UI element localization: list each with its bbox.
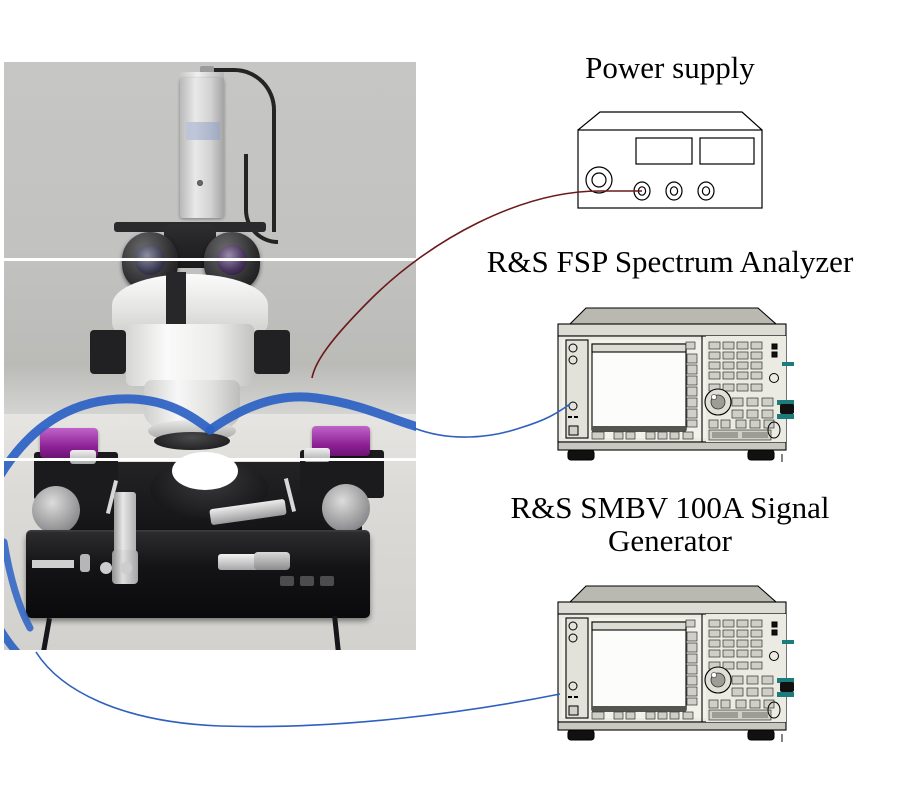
- analyzer-power-button: [569, 426, 578, 435]
- analyzer-softkey-6: [687, 409, 697, 418]
- generator-screen-bottom-bar: [592, 706, 686, 712]
- signal-generator-label-line1: R&S SMBV 100A Signal: [450, 492, 890, 525]
- analyzer-softkey-7: [687, 420, 697, 427]
- analyzer-screen-bottom-bar: [592, 426, 686, 432]
- generator-top-cover: [570, 586, 776, 602]
- analyzer-left-bay: [566, 340, 588, 438]
- generator-led-2: [772, 630, 777, 635]
- analyzer-foot-right: [748, 450, 774, 460]
- analyzer-aux-rf-connector: [777, 414, 794, 419]
- analyzer-rf-input-cap: [780, 404, 794, 414]
- analyzer-bottom-key-7: [683, 432, 693, 439]
- signal-generator-label-line2: Generator: [450, 525, 890, 558]
- power-supply-terminal-1-outer: [634, 182, 650, 200]
- signal-generator-device: [546, 580, 798, 746]
- analyzer-indicator-1: [568, 416, 572, 418]
- power-supply-terminal-3-outer: [698, 182, 714, 200]
- generator-screen-corner-key: [686, 620, 695, 627]
- signal-generator-label: R&S SMBV 100A Signal Generator: [450, 492, 890, 558]
- generator-base-rail: [558, 722, 786, 730]
- power-supply-device: [566, 108, 772, 212]
- generator-foot-right: [748, 730, 774, 740]
- analyzer-softkey-3: [687, 376, 697, 385]
- power-supply-terminal-2-outer: [666, 182, 682, 200]
- power-supply-label: Power supply: [470, 52, 870, 85]
- power-supply-top-bevel: [578, 112, 762, 130]
- spectrum-analyzer-device: [546, 302, 798, 464]
- generator-bottom-key-5: [658, 712, 667, 719]
- power-supply-main-knob-outer: [586, 167, 612, 193]
- power-supply-display-voltage: [636, 138, 692, 164]
- analyzer-bottom-key-4: [646, 432, 655, 439]
- generator-softkey-1: [687, 632, 697, 641]
- probe-station-photograph: [4, 62, 416, 650]
- analyzer-softkey-5: [687, 398, 697, 407]
- generator-softkey-4: [687, 665, 697, 674]
- generator-rotary-knob: [705, 667, 731, 693]
- power-supply-main-knob-inner: [592, 173, 606, 187]
- generator-bottom-key-7: [683, 712, 693, 719]
- scan-artifact-line-upper: [4, 258, 416, 261]
- generator-bottom-key-4: [646, 712, 655, 719]
- analyzer-screen-corner-key: [686, 342, 695, 349]
- power-supply-terminal-1-inner: [638, 187, 645, 195]
- analyzer-base-rail: [558, 442, 786, 450]
- generator-indicator-1: [568, 696, 572, 698]
- generator-led-1: [772, 622, 777, 627]
- analyzer-bottom-key-6: [670, 432, 679, 439]
- generator-bottom-key-6: [670, 712, 679, 719]
- generator-bottom-key-2: [614, 712, 623, 719]
- analyzer-softkey-4: [687, 387, 697, 396]
- analyzer-rotary-knob: [705, 389, 731, 415]
- generator-top-rail: [558, 602, 786, 614]
- generator-softkey-7: [687, 698, 697, 705]
- analyzer-led-1: [772, 344, 777, 349]
- generator-indicator-2: [574, 696, 578, 698]
- analyzer-bottom-key-2: [614, 432, 623, 439]
- analyzer-screen: [592, 344, 686, 430]
- spectrum-analyzer-label: R&S FSP Spectrum Analyzer: [440, 246, 900, 279]
- analyzer-softkey-2: [687, 365, 697, 374]
- generator-bottom-key-1: [592, 712, 604, 719]
- generator-rf-output-cap: [780, 682, 794, 692]
- analyzer-top-cover: [570, 308, 776, 324]
- power-supply-terminal-3-inner: [702, 187, 709, 195]
- power-supply-display-current: [700, 138, 754, 164]
- generator-power-button: [569, 706, 578, 715]
- generator-foot-left: [568, 730, 594, 740]
- analyzer-softkey-1: [687, 354, 697, 363]
- generator-softkey-2: [687, 643, 697, 652]
- generator-screen-title-bar: [592, 622, 686, 630]
- rf-input-cable: [36, 652, 560, 727]
- generator-screen: [592, 622, 686, 710]
- analyzer-foot-left: [568, 450, 594, 460]
- generator-left-bay: [566, 618, 588, 718]
- analyzer-bottom-key-3: [626, 432, 635, 439]
- generator-bottom-key-3: [626, 712, 635, 719]
- analyzer-indicator-2: [574, 416, 578, 418]
- generator-ref-in-connector: [782, 640, 794, 644]
- photo-coax-cables: [4, 62, 416, 650]
- figure-canvas: Power supply R&S FSP Spectrum Analyzer R…: [0, 0, 900, 800]
- white-ellipse-mask: [172, 452, 238, 490]
- generator-softkey-6: [687, 687, 697, 696]
- generator-softkey-3: [687, 654, 697, 663]
- analyzer-led-2: [772, 352, 777, 357]
- power-supply-terminal-2-inner: [670, 187, 677, 195]
- analyzer-bottom-key-5: [658, 432, 667, 439]
- generator-softkey-5: [687, 676, 697, 685]
- generator-aux-rf-connector: [777, 692, 794, 697]
- analyzer-bottom-key-1: [592, 432, 604, 439]
- analyzer-screen-title-bar: [592, 344, 686, 352]
- analyzer-ref-out-connector: [782, 362, 794, 366]
- analyzer-top-rail: [558, 324, 786, 336]
